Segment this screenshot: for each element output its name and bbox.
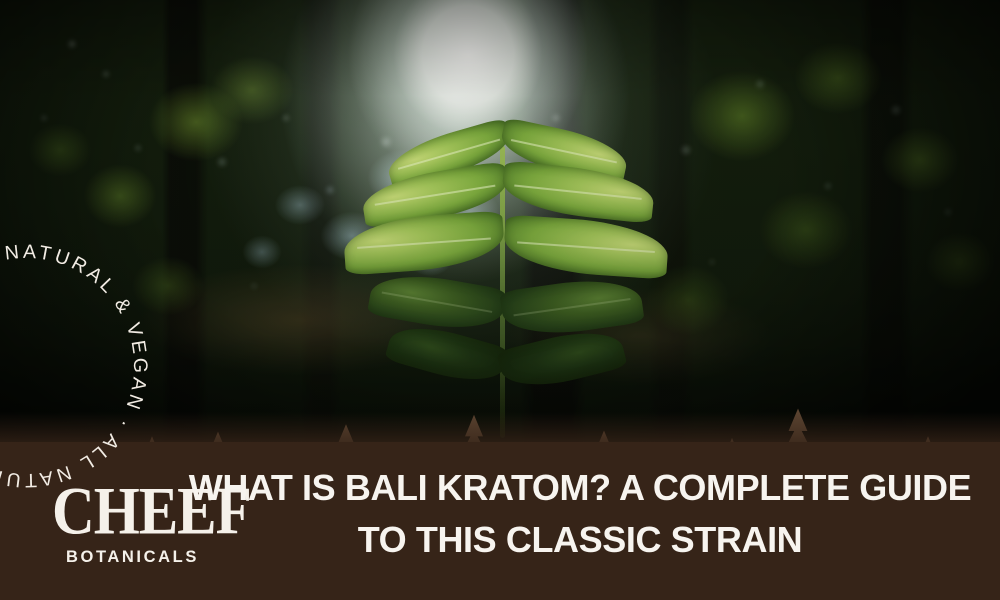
page-title: WHAT IS BALI KRATOM? A COMPLETE GUIDE TO… [180, 462, 980, 566]
blog-hero-banner: ALL NATURAL & VEGAN · ALL NATURAL & VEGA… [0, 0, 1000, 600]
badge-arc-text: ALL NATURAL & VEGAN · ALL NATURAL & VEGA… [0, 215, 151, 491]
all-natural-vegan-badge: ALL NATURAL & VEGAN · ALL NATURAL & VEGA… [0, 232, 160, 500]
page-title-line-2: TO THIS CLASSIC STRAIN [180, 514, 980, 566]
page-title-line-1: WHAT IS BALI KRATOM? A COMPLETE GUIDE [189, 467, 972, 508]
badge-arc-svg: ALL NATURAL & VEGAN · ALL NATURAL & VEGA… [0, 232, 160, 500]
logo-subtext: BOTANICALS [66, 548, 199, 567]
badge-arc-textpath: ALL NATURAL & VEGAN · ALL NATURAL & VEGA… [0, 215, 151, 491]
